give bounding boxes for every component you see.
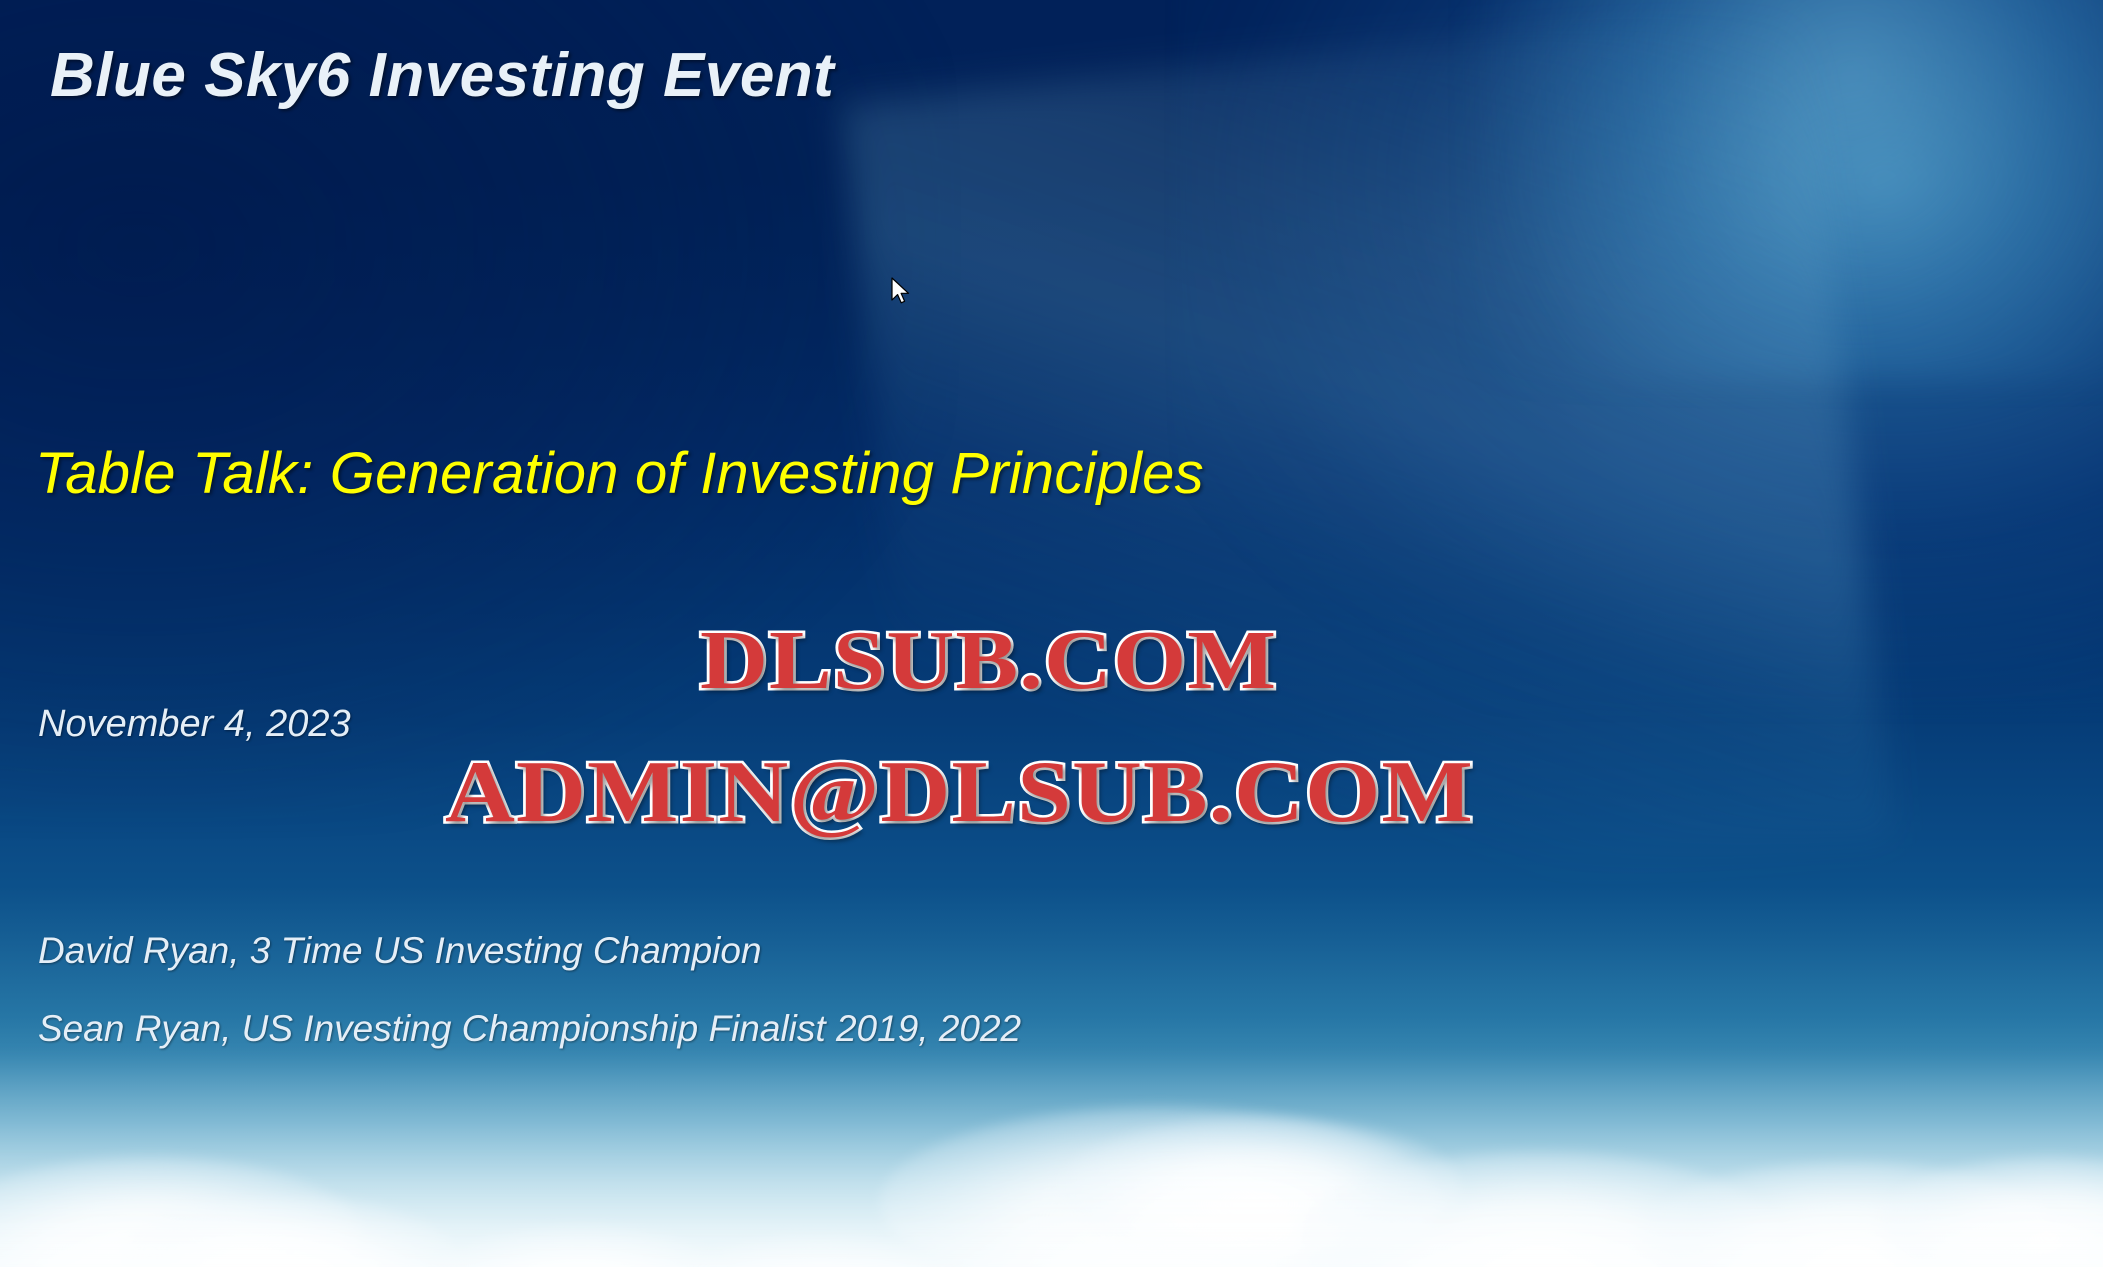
presentation-slide: Blue Sky6 Investing Event Table Talk: Ge…: [0, 0, 2103, 1267]
slide-text-layer: Blue Sky6 Investing Event Table Talk: Ge…: [0, 0, 2103, 1267]
slide-date: November 4, 2023: [38, 703, 351, 746]
page-title: Blue Sky6 Investing Event: [50, 40, 834, 111]
presenter-line-2: Sean Ryan, US Investing Championship Fin…: [38, 1008, 1021, 1050]
watermark-site: DLSUB.COM: [700, 612, 1277, 709]
watermark-email: ADMIN@DLSUB.COM: [445, 742, 1474, 843]
presenter-line-1: David Ryan, 3 Time US Investing Champion: [38, 930, 762, 972]
slide-subtitle: Table Talk: Generation of Investing Prin…: [35, 440, 1204, 507]
